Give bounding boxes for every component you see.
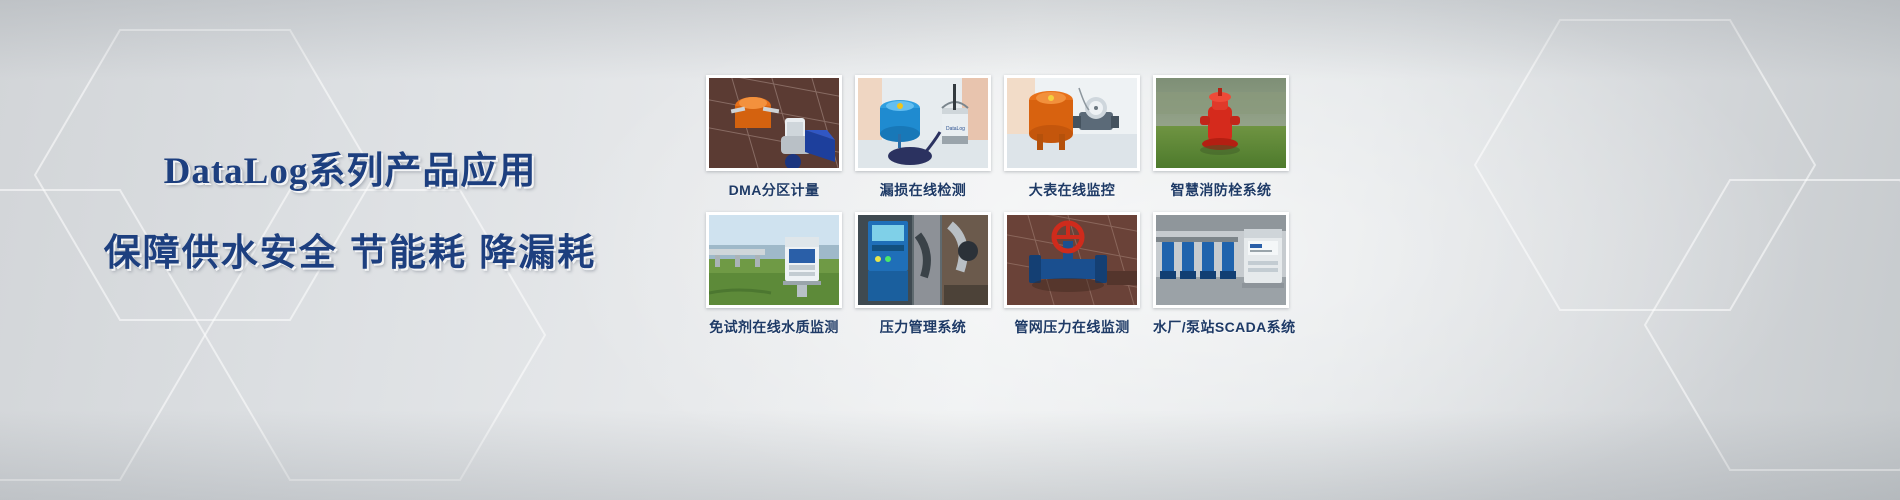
product-card-dma-zone-metering[interactable]: DMA分区计量 [706, 75, 842, 200]
product-caption: 智慧消防栓系统 [1153, 180, 1289, 200]
headline-line-1: DataLog系列产品应用 [0, 140, 700, 194]
product-thumbnail-frame[interactable] [855, 212, 991, 308]
product-thumbnail-frame[interactable] [706, 212, 842, 308]
product-thumbnail-frame[interactable] [1153, 212, 1289, 308]
product-card-pressure-management[interactable]: 压力管理系统 [855, 212, 991, 337]
headline-block: DataLog系列产品应用 保障供水安全 节能耗 降漏耗 [0, 140, 700, 276]
product-caption: 管网压力在线监测 [1004, 317, 1140, 337]
scada-system-photo [1156, 215, 1286, 305]
pressure-management-photo [858, 215, 988, 305]
product-card-pipe-network-pressure[interactable]: 管网压力在线监测 [1004, 212, 1140, 337]
headline-line-2: 保障供水安全 节能耗 降漏耗 [0, 222, 700, 276]
svg-text:DataLog: DataLog [946, 126, 965, 132]
product-card-leak-detection[interactable]: DataLog 漏损在线检测 [855, 75, 991, 200]
product-caption: 免试剂在线水质监测 [706, 317, 842, 337]
product-thumbnail-frame[interactable] [706, 75, 842, 171]
leak-detection-logger-photo: DataLog [858, 78, 988, 168]
product-card-smart-fire-hydrant[interactable]: 智慧消防栓系统 [1153, 75, 1289, 200]
dma-zone-metering-photo [709, 78, 839, 168]
product-thumbnail-frame[interactable] [1153, 75, 1289, 171]
product-caption: 大表在线监控 [1004, 180, 1140, 200]
product-card-water-quality-monitoring[interactable]: 免试剂在线水质监测 [706, 212, 842, 337]
product-thumbnail-frame[interactable] [1004, 212, 1140, 308]
reagent-free-water-quality-photo [709, 215, 839, 305]
product-thumbnail-frame[interactable] [1004, 75, 1140, 171]
product-caption: 水厂/泵站SCADA系统 [1153, 317, 1289, 337]
product-card-large-meter-monitoring[interactable]: 大表在线监控 [1004, 75, 1140, 200]
product-card-scada-system[interactable]: 水厂/泵站SCADA系统 [1153, 212, 1289, 337]
product-caption: DMA分区计量 [706, 180, 842, 200]
product-banner: DataLog系列产品应用 保障供水安全 节能耗 降漏耗 [0, 0, 1900, 500]
product-caption: 压力管理系统 [855, 317, 991, 337]
pipe-network-pressure-photo [1007, 215, 1137, 305]
product-caption: 漏损在线检测 [855, 180, 991, 200]
smart-fire-hydrant-photo [1156, 78, 1286, 168]
product-thumbnail-frame[interactable]: DataLog [855, 75, 991, 171]
large-meter-monitoring-photo [1007, 78, 1137, 168]
product-grid: DMA分区计量 [706, 75, 1290, 337]
